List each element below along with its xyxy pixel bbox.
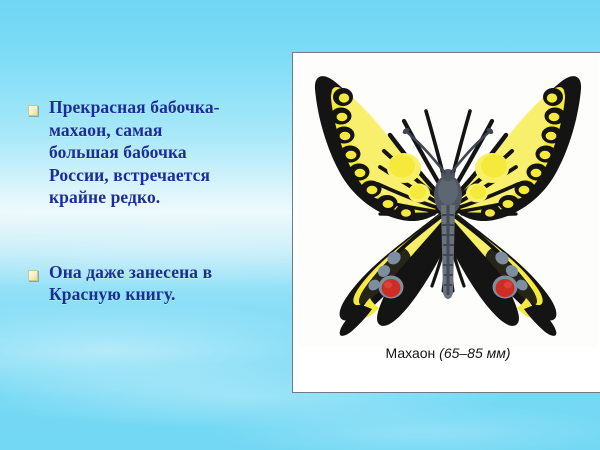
bullet-list: Прекрасная бабочка- махаон, самая больша…: [28, 96, 286, 306]
bullet-text-2: Она даже занесена в Красную книгу.: [49, 261, 212, 306]
square-bullet-icon: [28, 105, 38, 116]
list-item: Прекрасная бабочка- махаон, самая больша…: [28, 96, 286, 209]
bullet-text-1: Прекрасная бабочка- махаон, самая больша…: [49, 96, 220, 209]
slide: Прекрасная бабочка- махаон, самая больша…: [0, 0, 600, 450]
caption-title: Махаон: [386, 345, 436, 361]
image-panel: Махаон (65–85 мм): [292, 52, 600, 393]
swallowtail-butterfly-illustration: [298, 55, 598, 347]
list-item: Она даже занесена в Красную книгу.: [28, 261, 286, 306]
square-bullet-icon: [28, 270, 38, 281]
figure-caption: Махаон (65–85 мм): [386, 345, 511, 361]
caption-size: (65–85 мм): [439, 345, 510, 361]
